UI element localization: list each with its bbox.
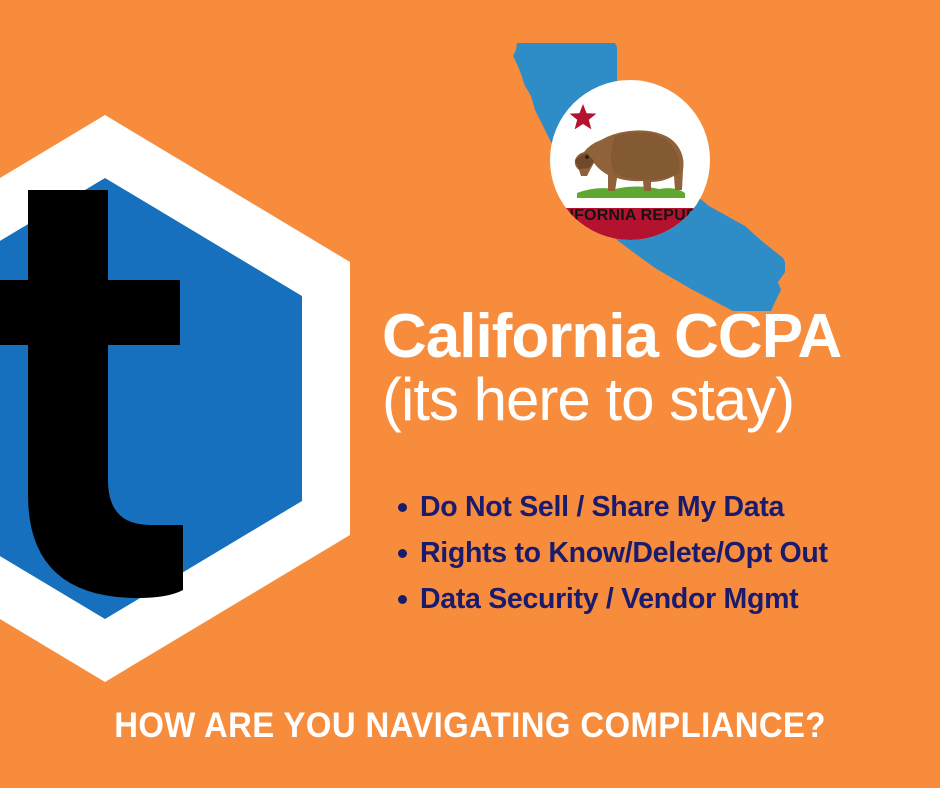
- ccpa-highlights-list: Do Not Sell / Share My Data Rights to Kn…: [388, 484, 828, 622]
- list-item: Data Security / Vendor Mgmt: [420, 576, 828, 622]
- footer-call-to-action: HOW ARE YOU NAVIGATING COMPLIANCE?: [28, 706, 912, 746]
- page-title: California CCPA: [382, 305, 922, 368]
- page-subtitle: (its here to stay): [382, 368, 922, 433]
- list-item: Do Not Sell / Share My Data: [420, 484, 828, 530]
- ccpa-poster: CALIFORNIA REPUBLIC California CCPA (its…: [0, 0, 940, 788]
- california-map: CALIFORNIA REPUBLIC: [495, 30, 785, 320]
- headline-block: California CCPA (its here to stay): [382, 305, 922, 433]
- padlock-logo: [0, 0, 370, 700]
- list-item: Rights to Know/Delete/Opt Out: [420, 530, 828, 576]
